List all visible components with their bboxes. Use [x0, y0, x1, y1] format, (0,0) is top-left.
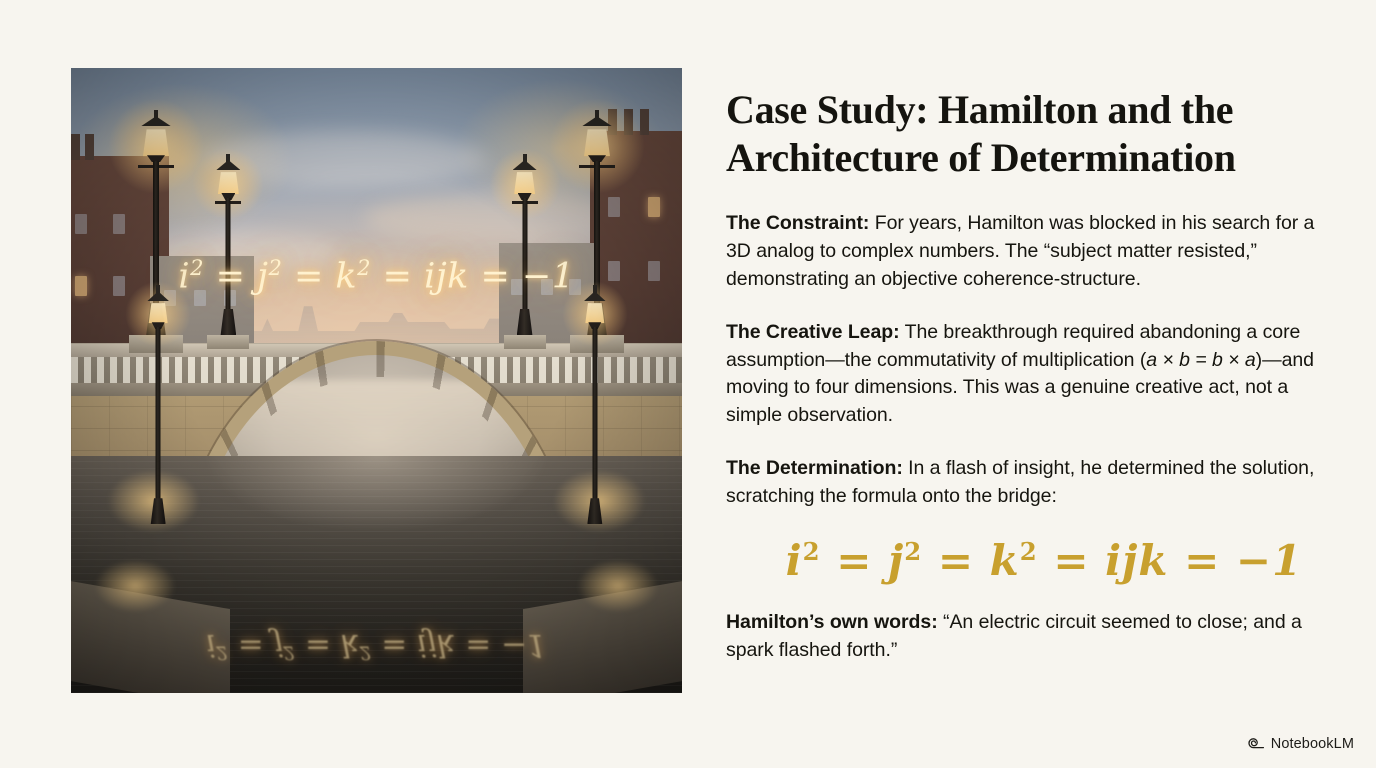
formula-minus-one: −1	[1236, 536, 1302, 585]
painting: i2 = j2 = k2 = ijk = −1 i2 = j2 = k2 = i…	[71, 68, 682, 693]
formula-exp-i: 2	[803, 537, 821, 566]
paragraph-determination: The Determination: In a flash of insight…	[726, 455, 1340, 511]
inscription-k: k	[335, 256, 357, 296]
paragraph-lead-determination: The Determination:	[726, 457, 903, 479]
formula-k: k	[990, 536, 1020, 585]
gas-lamp-inner-left	[205, 168, 251, 337]
formula-eq-3: =	[1053, 536, 1089, 585]
reflection-result: −1	[501, 627, 547, 663]
formula-exp-k: 2	[1020, 537, 1038, 566]
inscription-eq: =	[383, 256, 413, 296]
inscription-j: j	[257, 256, 268, 296]
reflection-ijk: ijk	[417, 627, 455, 663]
inscription-eq: =	[216, 256, 246, 296]
artwork-image: i2 = j2 = k2 = ijk = −1 i2 = j2 = k2 = i…	[71, 68, 682, 693]
quaternion-formula: i2 = j2 = k2 = ijk = −1	[726, 536, 1340, 585]
formula-exp-j: 2	[904, 537, 922, 566]
inscription-water-reflection: i2 = j2 = k2 = ijk = −1	[71, 627, 682, 663]
text-column: Case Study: Hamilton and the Architectur…	[726, 86, 1340, 690]
inscription-exp: 2	[190, 256, 204, 280]
paragraph-constraint: The Constraint: For years, Hamilton was …	[726, 210, 1340, 294]
formula-eq-2: =	[938, 536, 974, 585]
inscription-ijk: ijk	[424, 256, 469, 296]
slide-canvas: i2 = j2 = k2 = ijk = −1 i2 = j2 = k2 = i…	[0, 0, 1376, 768]
inscription-result: −1	[522, 256, 575, 296]
inscription-i: i	[178, 256, 190, 296]
paragraph-lead-constraint: The Constraint:	[726, 212, 869, 234]
paragraph-lead-creative-leap: The Creative Leap:	[726, 321, 900, 343]
paragraph-lead-hamilton-quote: Hamilton’s own words:	[726, 611, 938, 633]
inscription-eq: =	[294, 256, 324, 296]
formula-i: i	[786, 536, 803, 585]
reflection-i: i	[206, 627, 216, 663]
gas-lamp-inner-right	[502, 168, 548, 337]
formula-ijk: ijk	[1105, 536, 1168, 585]
formula-eq-1: =	[836, 536, 872, 585]
quay-lamp-right	[575, 299, 615, 524]
inscription-exp: 2	[357, 256, 371, 280]
formula-eq-4: =	[1184, 536, 1220, 585]
page-title: Case Study: Hamilton and the Architectur…	[726, 86, 1340, 182]
notebooklm-label: NotebookLM	[1271, 736, 1354, 752]
reflection-j: j	[274, 627, 284, 663]
commutativity-expression: a × b = b × a	[1146, 349, 1255, 371]
quay-lamp-left	[138, 299, 178, 524]
reflection-k: k	[341, 627, 360, 663]
notebooklm-brand: NotebookLM	[1248, 734, 1354, 754]
formula-j: j	[888, 536, 904, 585]
inscription-eq: =	[481, 256, 511, 296]
paragraph-creative-leap: The Creative Leap: The breakthrough requ…	[726, 319, 1340, 431]
paragraph-hamilton-quote: Hamilton’s own words: “An electric circu…	[726, 609, 1340, 665]
notebooklm-spiral-icon	[1248, 734, 1265, 754]
bridge-inscription: i2 = j2 = k2 = ijk = −1	[71, 256, 682, 297]
inscription-exp: 2	[268, 256, 282, 280]
